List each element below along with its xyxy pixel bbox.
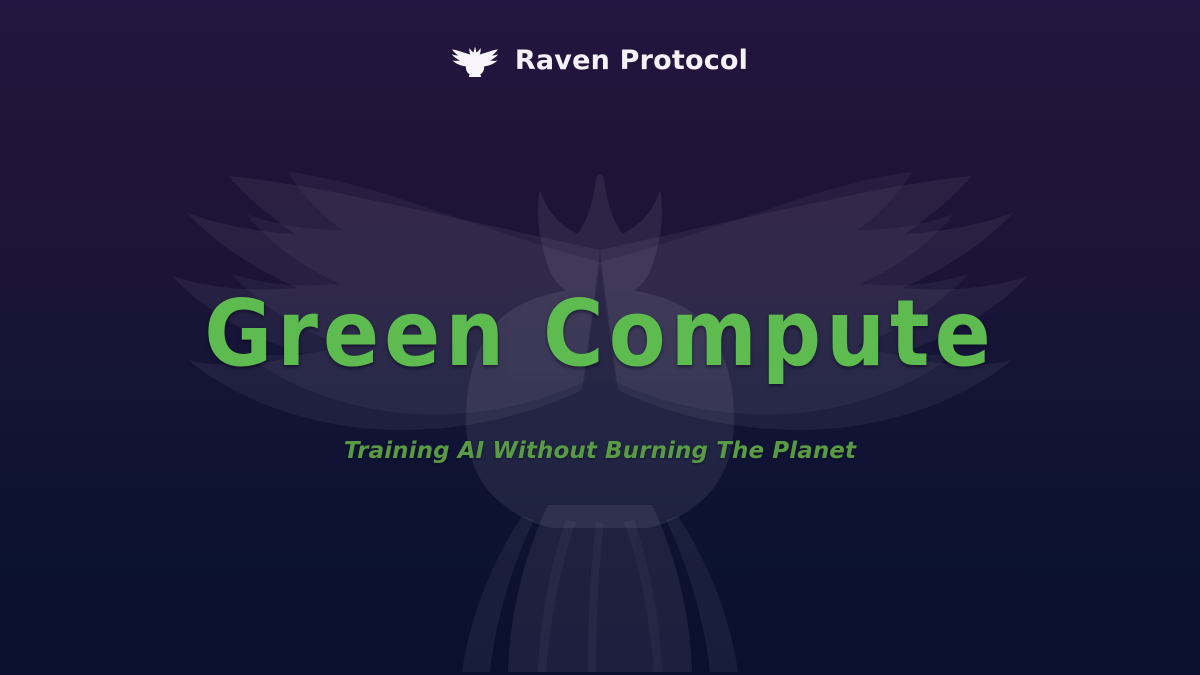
- title-slide: Raven Protocol Green Compute Training AI…: [0, 0, 1200, 675]
- page-subtitle: Training AI Without Burning The Planet: [344, 440, 856, 463]
- page-title: Green Compute: [204, 288, 996, 380]
- hero-block: Green Compute Training AI Without Burnin…: [0, 0, 1200, 675]
